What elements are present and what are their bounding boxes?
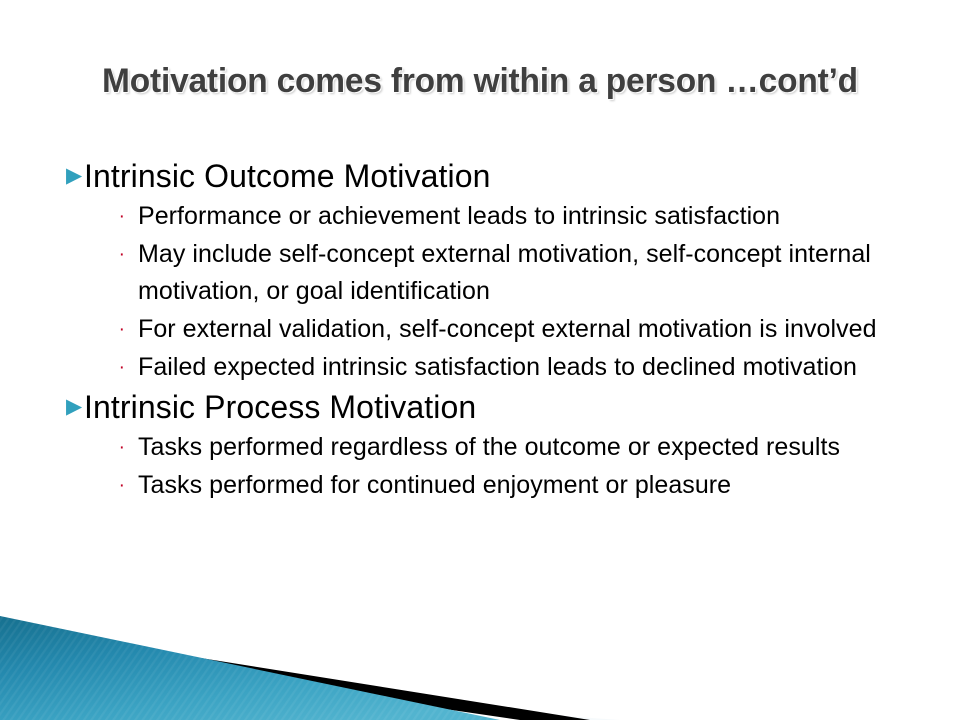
black-stripe: [0, 626, 590, 720]
dot-bullet-icon: ·: [58, 467, 138, 504]
bullet-text: Tasks performed regardless of the outcom…: [138, 429, 883, 466]
corner-decoration: [0, 608, 620, 720]
bullet-item-level2: · Tasks performed for continued enjoymen…: [58, 467, 904, 504]
bullet-item-level1: ▶ Intrinsic Process Motivation: [58, 387, 904, 427]
bullet-text: Performance or achievement leads to intr…: [138, 198, 883, 235]
bullet-text: Failed expected intrinsic satisfaction l…: [138, 349, 883, 386]
light-blue-band: [0, 652, 620, 720]
bullet-text: Tasks performed for continued enjoyment …: [138, 467, 883, 504]
triangle-bullet-icon: ▶: [58, 387, 84, 427]
bullet-text: May include self-concept external motiva…: [138, 236, 883, 310]
dot-bullet-icon: ·: [58, 311, 138, 348]
slide-body-content: ▶ Intrinsic Outcome Motivation · Perform…: [58, 156, 904, 505]
bullet-item-level2: · For external validation, self-concept …: [58, 311, 904, 348]
triangle-bullet-icon: ▶: [58, 156, 84, 196]
teal-triangle: [0, 616, 500, 720]
bullet-text: For external validation, self-concept ex…: [138, 311, 883, 348]
slide-title: Motivation comes from within a person …c…: [66, 58, 893, 110]
bullet-item-level2: · Performance or achievement leads to in…: [58, 198, 904, 235]
dot-bullet-icon: ·: [58, 236, 138, 273]
presentation-slide: Motivation comes from within a person …c…: [0, 0, 960, 720]
bullet-text: Intrinsic Outcome Motivation: [84, 156, 904, 196]
dot-bullet-icon: ·: [58, 349, 138, 386]
bullet-item-level2: · Tasks performed regardless of the outc…: [58, 429, 904, 466]
teal-triangle-texture: [0, 616, 500, 720]
bullet-item-level2: · May include self-concept external moti…: [58, 236, 904, 310]
bullet-item-level1: ▶ Intrinsic Outcome Motivation: [58, 156, 904, 196]
dot-bullet-icon: ·: [58, 198, 138, 235]
dot-bullet-icon: ·: [58, 429, 138, 466]
bullet-text: Intrinsic Process Motivation: [84, 387, 904, 427]
bullet-item-level2: · Failed expected intrinsic satisfaction…: [58, 349, 904, 386]
